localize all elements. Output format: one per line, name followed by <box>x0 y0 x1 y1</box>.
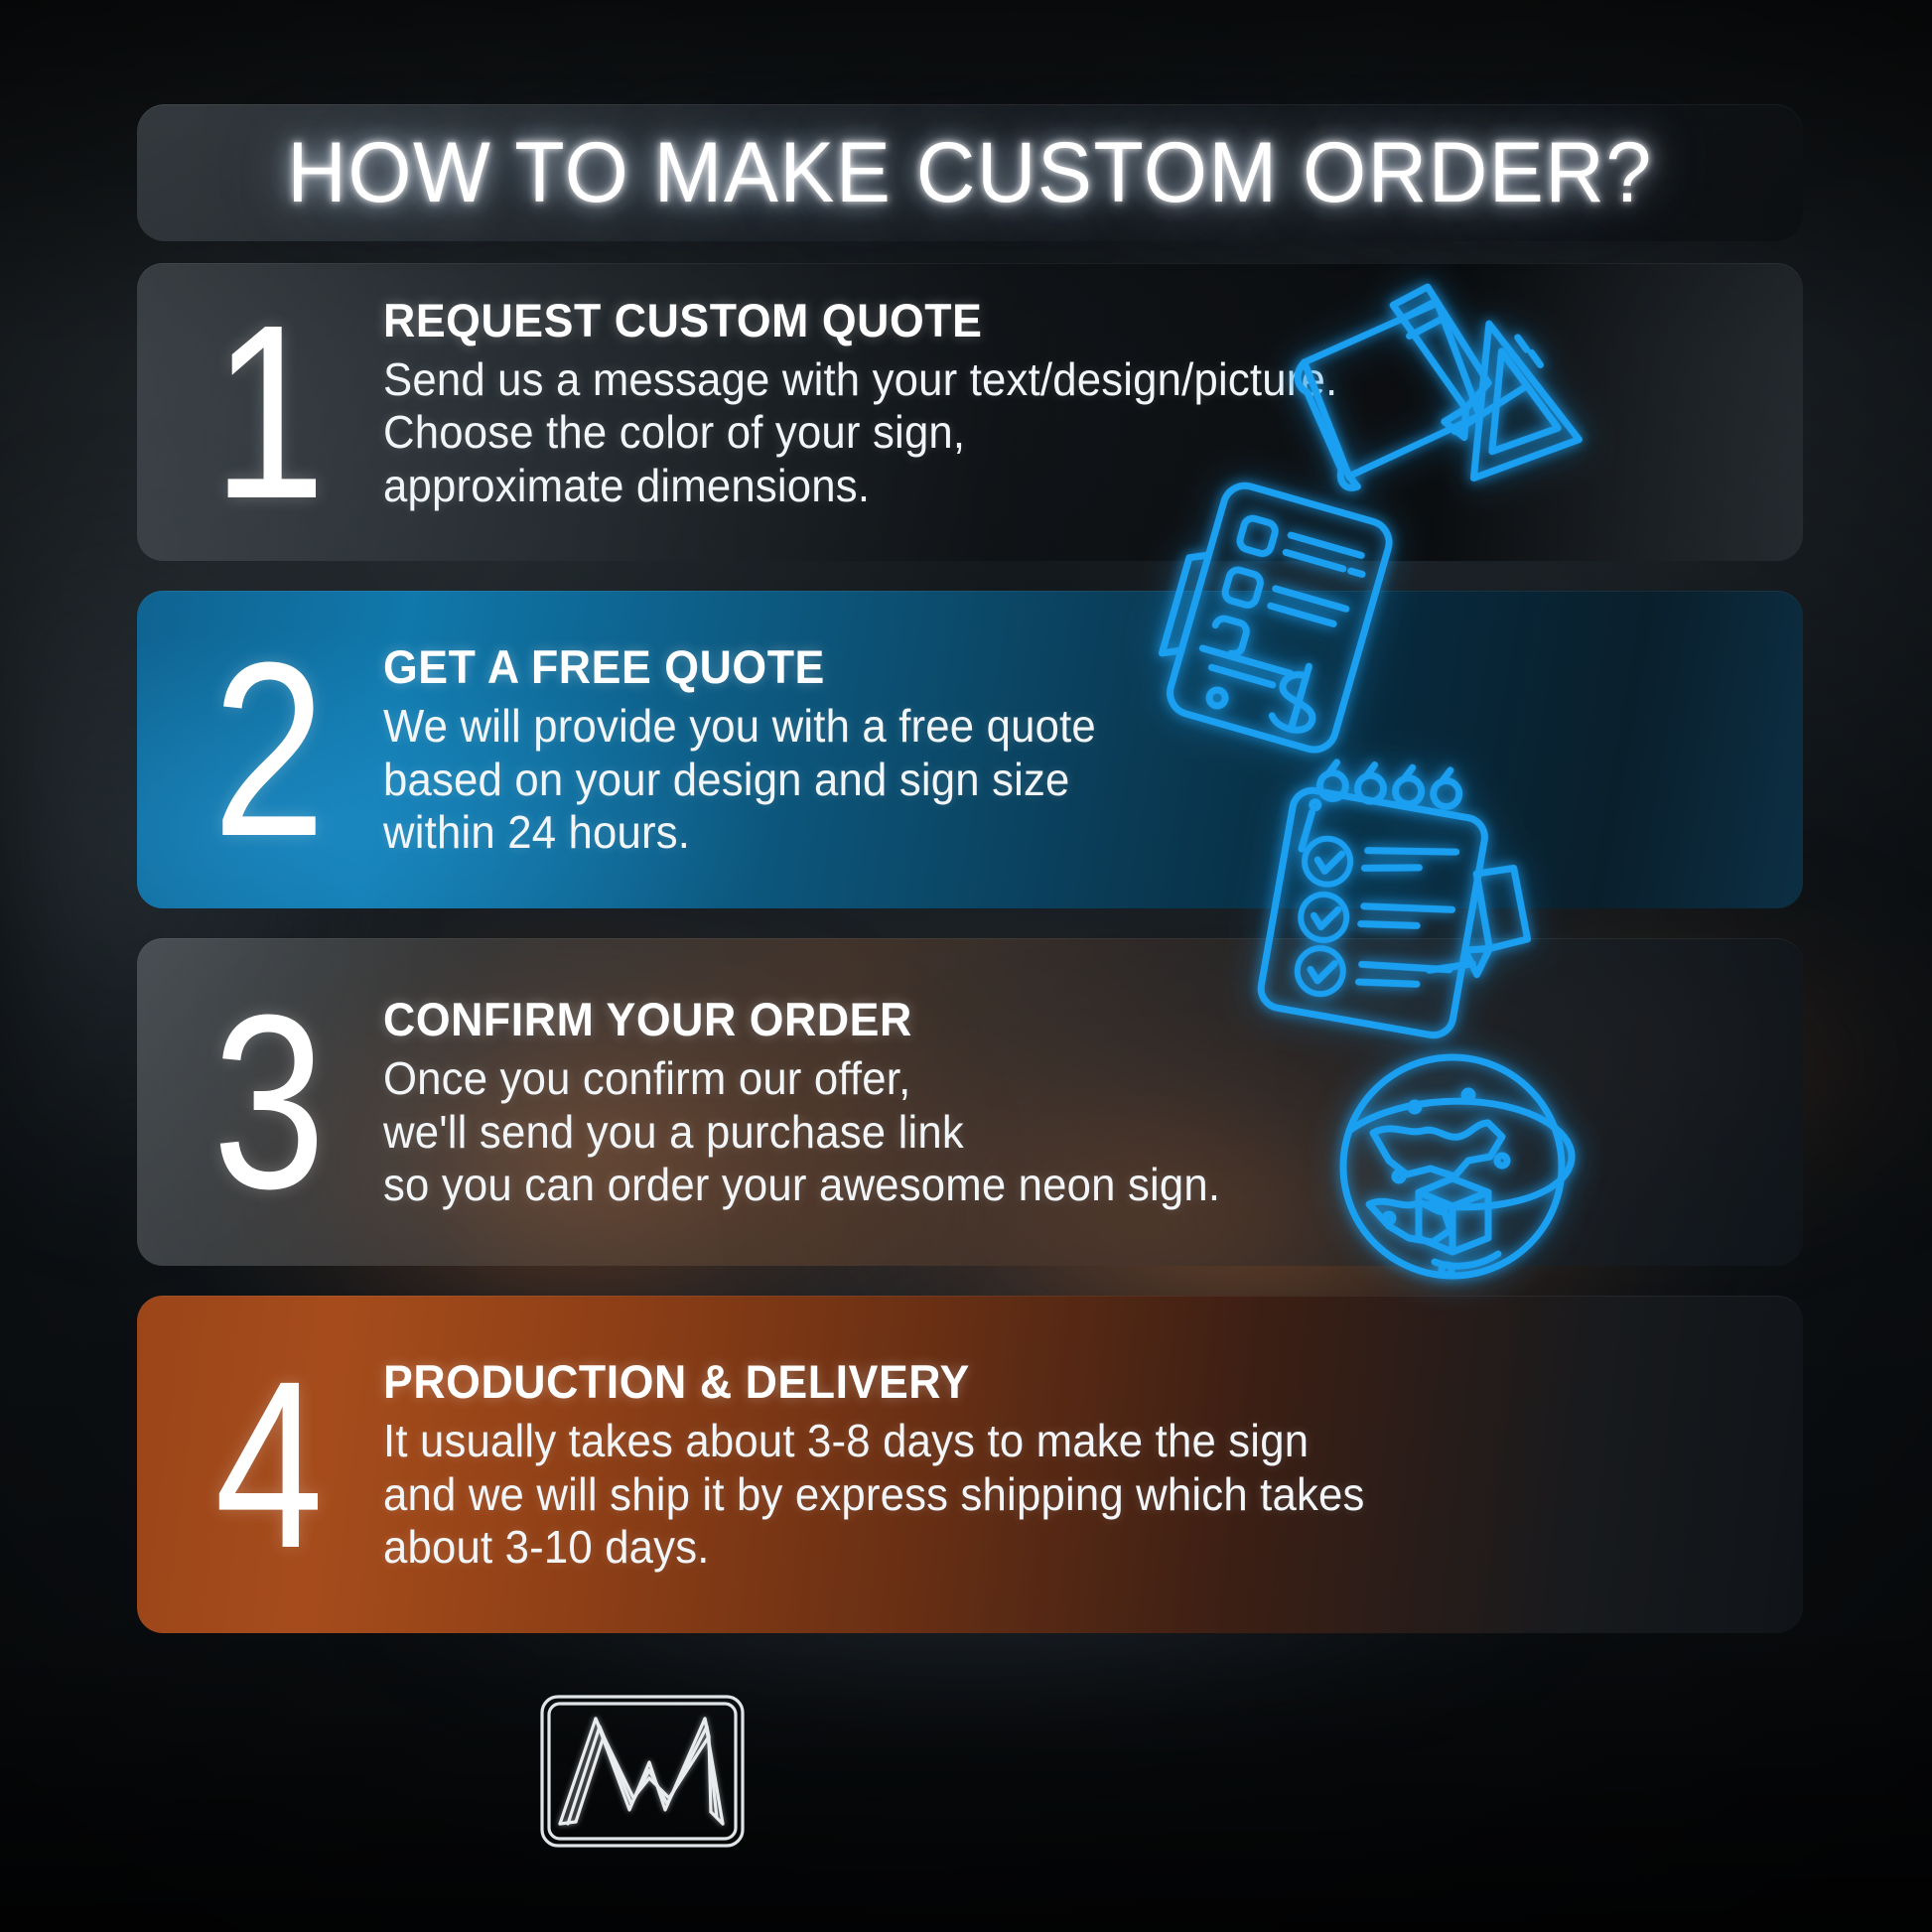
step-number-3: 3 <box>176 938 363 1266</box>
step-body-2: GET A FREE QUOTE We will provide you wit… <box>383 591 1803 908</box>
step-card-4: 4 PRODUCTION & DELIVERY It usually takes… <box>137 1296 1803 1633</box>
step-body-1: REQUEST CUSTOM QUOTE Send us a message w… <box>383 263 1803 561</box>
step-line-2-1: We will provide you with a free quote <box>383 700 1732 753</box>
step-heading-1: REQUEST CUSTOM QUOTE <box>383 293 1732 347</box>
content-column: HOW TO MAKE CUSTOM ORDER? 1 REQUEST CUST… <box>137 0 1805 1932</box>
step-number-2: 2 <box>176 591 363 908</box>
infographic-poster: HOW TO MAKE CUSTOM ORDER? 1 REQUEST CUST… <box>0 0 1932 1932</box>
page-title: HOW TO MAKE CUSTOM ORDER? <box>171 104 1770 241</box>
step-line-3-2: we'll send you a purchase link <box>383 1106 1732 1159</box>
step-card-1: 1 REQUEST CUSTOM QUOTE Send us a message… <box>137 263 1803 561</box>
step-heading-3: CONFIRM YOUR ORDER <box>383 992 1732 1046</box>
step-line-1-3: approximate dimensions. <box>383 460 1732 512</box>
step-line-4-1: It usually takes about 3-8 days to make … <box>383 1415 1732 1467</box>
step-number-1: 1 <box>176 263 363 561</box>
step-body-4: PRODUCTION & DELIVERY It usually takes a… <box>383 1296 1803 1633</box>
step-line-1-2: Choose the color of your sign, <box>383 406 1732 459</box>
step-heading-4: PRODUCTION & DELIVERY <box>383 1354 1732 1409</box>
step-line-4-2: and we will ship it by express shipping … <box>383 1468 1732 1521</box>
ln-monogram-logo <box>538 1693 747 1850</box>
step-line-3-3: so you can order your awesome neon sign. <box>383 1159 1732 1211</box>
step-number-4: 4 <box>176 1296 363 1633</box>
step-line-3-1: Once you confirm our offer, <box>383 1052 1732 1105</box>
step-line-4-3: about 3-10 days. <box>383 1521 1732 1574</box>
step-card-3: 3 CONFIRM YOUR ORDER Once you confirm ou… <box>137 938 1803 1266</box>
step-heading-2: GET A FREE QUOTE <box>383 639 1732 694</box>
step-card-2: 2 GET A FREE QUOTE We will provide you w… <box>137 591 1803 908</box>
step-body-3: CONFIRM YOUR ORDER Once you confirm our … <box>383 938 1803 1266</box>
step-line-2-3: within 24 hours. <box>383 806 1732 859</box>
step-line-2-2: based on your design and sign size <box>383 754 1732 806</box>
step-line-1-1: Send us a message with your text/design/… <box>383 353 1732 406</box>
